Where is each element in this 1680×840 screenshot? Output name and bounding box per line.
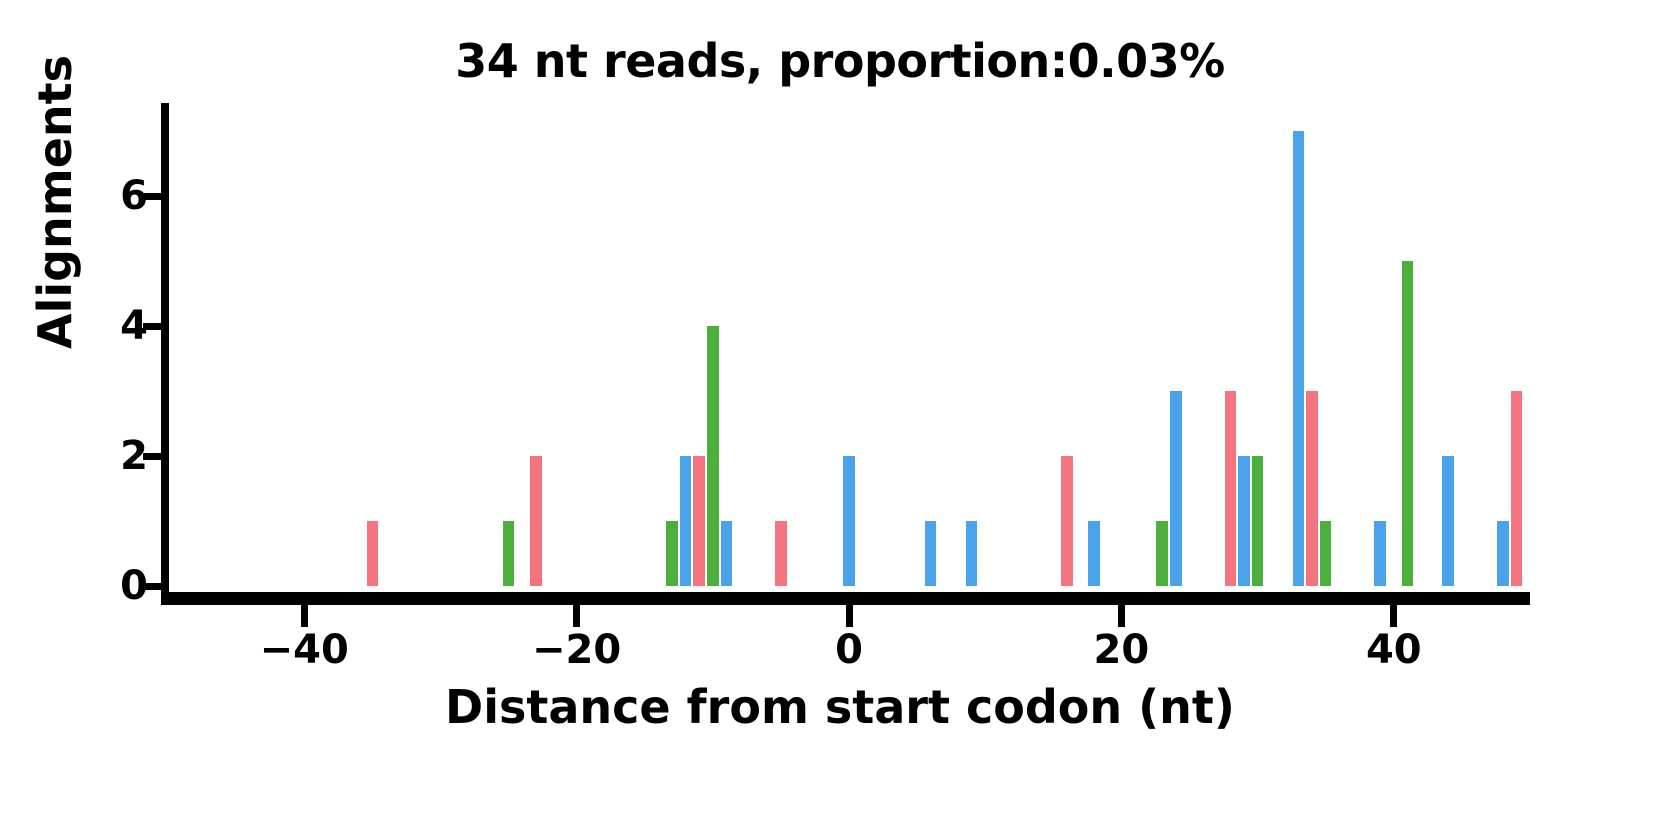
bar (1442, 456, 1454, 586)
bar (1238, 456, 1250, 586)
bar (1156, 521, 1168, 586)
bar (530, 456, 542, 586)
bar (1225, 391, 1237, 586)
x-axis-tick-label: −20 (507, 630, 647, 670)
bar (1320, 521, 1332, 586)
x-axis-tick (301, 605, 308, 627)
y-axis-tick-label: 4 (88, 306, 148, 346)
chart-figure: 34 nt reads, proportion:0.03% 0246 −40−2… (0, 0, 1680, 840)
x-axis-tick (846, 605, 853, 627)
y-axis-label: Alignments (28, 0, 82, 412)
chart-title: 34 nt reads, proportion:0.03% (0, 34, 1680, 88)
bar (693, 456, 705, 586)
y-axis-tick-label: 0 (88, 566, 148, 606)
x-axis-tick-label: 40 (1324, 630, 1464, 670)
bar (503, 521, 515, 586)
bars-layer (168, 105, 1530, 586)
bar (666, 521, 678, 586)
x-axis-tick (1390, 605, 1397, 627)
x-axis-label: Distance from start codon (nt) (0, 680, 1680, 734)
bar (925, 521, 937, 586)
y-axis-tick-label: 2 (88, 436, 148, 476)
bar (1374, 521, 1386, 586)
bar (680, 456, 692, 586)
bar (1402, 261, 1414, 586)
bar (1306, 391, 1318, 586)
bar (1511, 391, 1523, 586)
x-axis-tick (1118, 605, 1125, 627)
y-axis-tick-label: 6 (88, 176, 148, 216)
bar (1061, 456, 1073, 586)
bar (367, 521, 379, 586)
bar (1293, 131, 1305, 586)
bar (1252, 456, 1264, 586)
plot-area (168, 105, 1530, 586)
bar (843, 456, 855, 586)
x-axis-tick-label: 0 (779, 630, 919, 670)
y-axis-spine (161, 103, 169, 600)
x-axis-tick-label: 20 (1051, 630, 1191, 670)
bar (1497, 521, 1509, 586)
bar (721, 521, 733, 586)
x-axis-spine (161, 592, 1530, 605)
bar (1170, 391, 1182, 586)
bar (707, 326, 719, 586)
bar (775, 521, 787, 586)
bar (1088, 521, 1100, 586)
x-axis-tick (573, 605, 580, 627)
x-axis-tick-label: −40 (234, 630, 374, 670)
bar (966, 521, 978, 586)
